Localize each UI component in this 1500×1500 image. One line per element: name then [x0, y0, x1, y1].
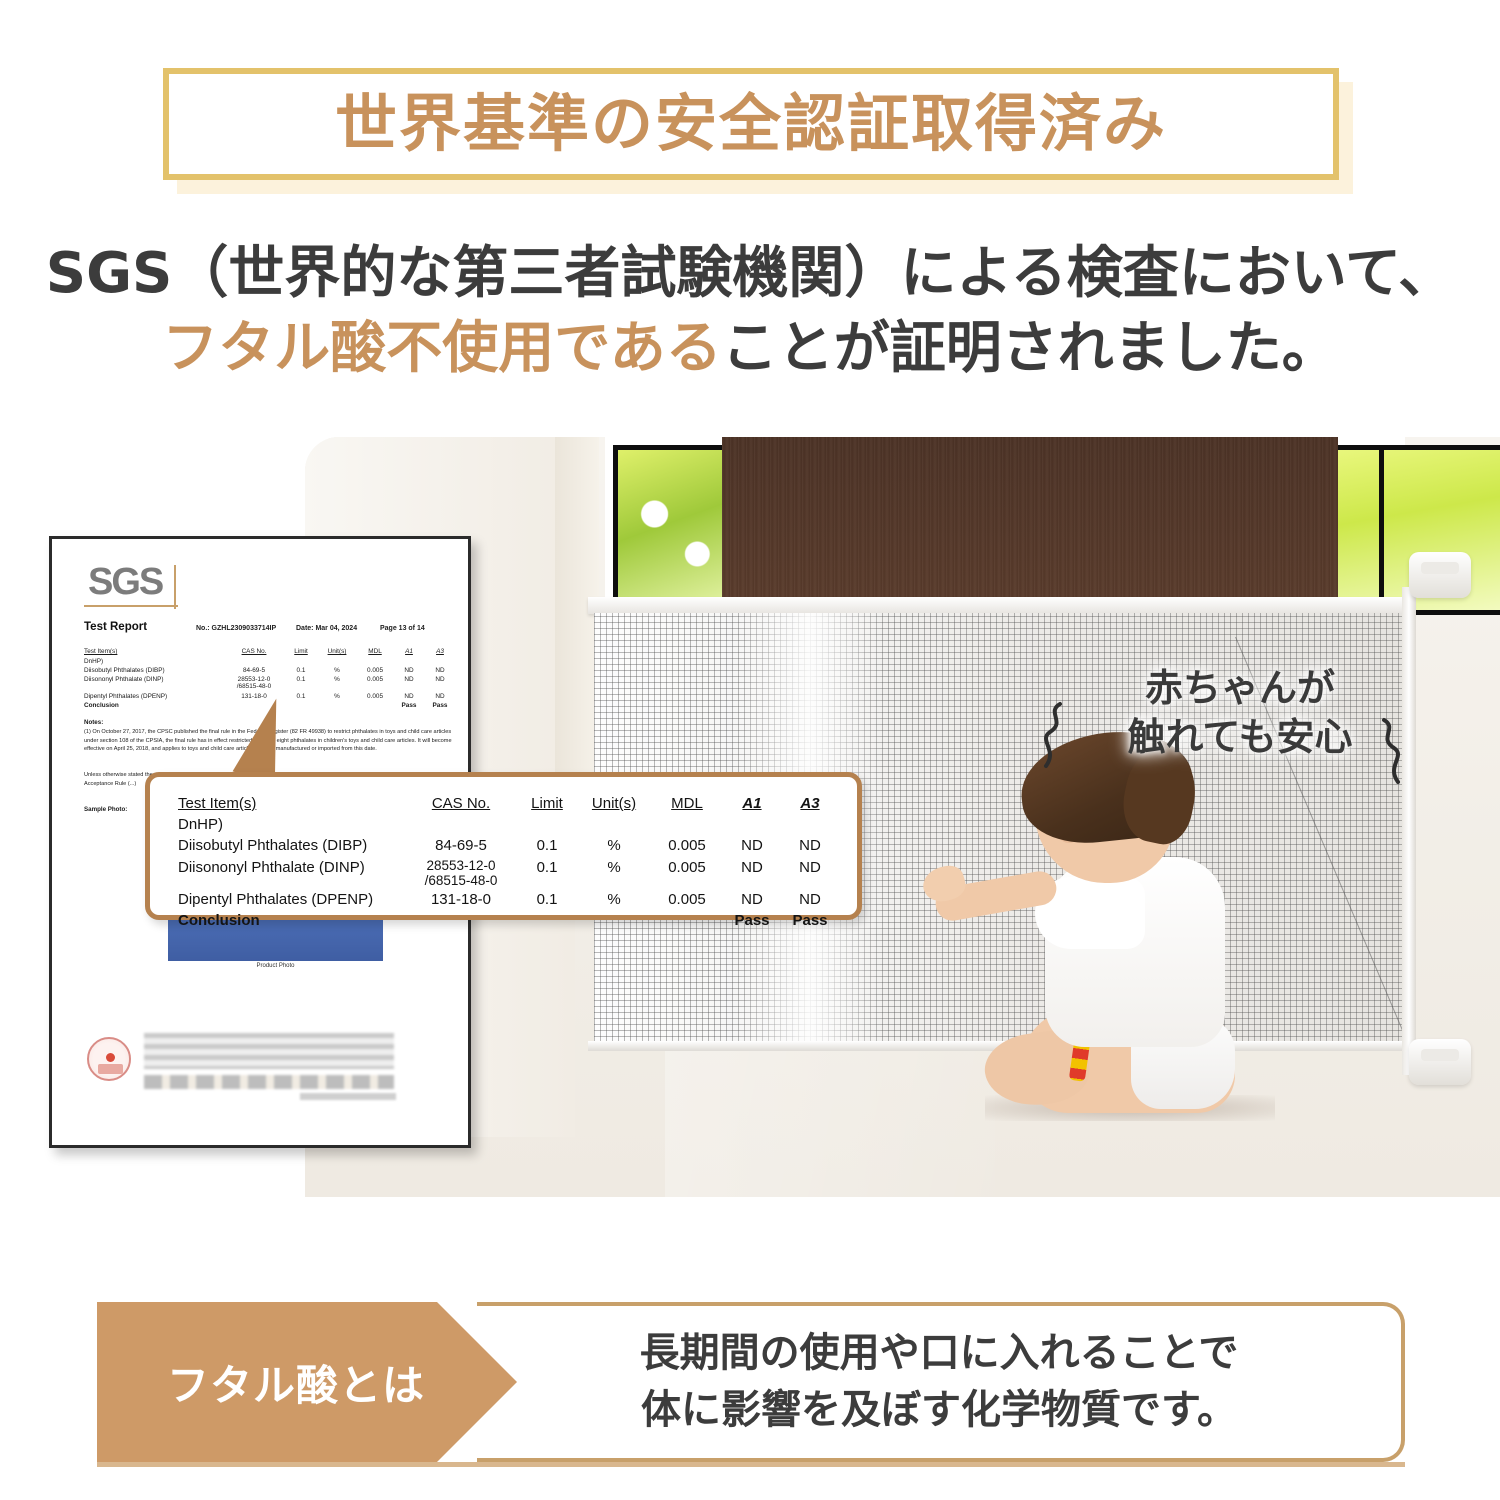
report-number: No.: GZHL2309033714IP	[196, 625, 296, 632]
table-row: Diisobutyl Phthalates (DIBP) 84-69-5 0.1…	[84, 666, 456, 675]
report-date: Date: Mar 04, 2024	[296, 625, 380, 632]
td-a1: ND	[724, 889, 780, 910]
td-mdl: 0.005	[356, 666, 394, 675]
squiggle-left-icon	[1036, 700, 1070, 772]
th-cas-no: CAS No.	[224, 647, 284, 656]
bottom-banner-line-2: 体に影響を及ぼす化学物質です。	[641, 1382, 1237, 1439]
bottom-banner-tag-label: フタル酸とは	[167, 1352, 425, 1413]
th-mdl: MDL	[356, 647, 394, 656]
table-header-row: Test Item(s) CAS No. Limit Unit(s) MDL A…	[84, 647, 456, 656]
squiggle-right-icon	[1374, 716, 1408, 788]
sgs-logo-tick	[174, 565, 176, 609]
td-conclusion-a1: Pass	[394, 701, 424, 710]
td-unit: %	[578, 857, 650, 889]
td-unit: %	[318, 692, 356, 701]
td-limit: 0.1	[284, 692, 318, 701]
td-limit: 0.1	[284, 675, 318, 691]
table-row: Diisobutyl Phthalates (DIBP) 84-69-5 0.1…	[178, 835, 840, 856]
td-item: Dipentyl Phthalates (DPENP)	[178, 889, 406, 910]
td-unit: %	[318, 675, 356, 691]
td-limit: 0.1	[516, 835, 578, 856]
td-limit: 0.1	[516, 857, 578, 889]
photo-caption-line-2: 触れても安心	[1075, 713, 1405, 762]
td-item: Diisononyl Phthalate (DINP)	[178, 857, 406, 889]
td-a3: ND	[780, 835, 840, 856]
wall-bracket-top	[1409, 552, 1471, 598]
td-cas-b: /68515-48-0	[425, 873, 498, 888]
td-item: Diisobutyl Phthalates (DIBP)	[84, 666, 224, 675]
td-a3: ND	[780, 857, 840, 889]
th-a1: A1	[394, 647, 424, 656]
table-row: Diisononyl Phthalate (DINP) 28553-12-0 /…	[178, 857, 840, 889]
report-title: Test Report	[84, 621, 196, 633]
th-a1: A1	[724, 793, 780, 814]
td-cas: 28553-12-0 /68515-48-0	[406, 857, 516, 889]
photo-caption-line-1: 赤ちゃんが	[1075, 664, 1405, 713]
certification-stamp-icon	[87, 1037, 131, 1081]
page-title: 世界基準の安全認証取得済み	[335, 93, 1167, 155]
td-conclusion-a3: Pass	[424, 701, 456, 710]
gate-top-rail	[588, 597, 1414, 614]
td-a3: ND	[424, 675, 456, 691]
td-limit: 0.1	[284, 666, 318, 675]
bottom-banner-tag: フタル酸とは	[97, 1302, 517, 1462]
td-a3: ND	[424, 692, 456, 701]
th-limit: Limit	[516, 793, 578, 814]
td-a1: ND	[394, 675, 424, 691]
wall-bracket-bottom	[1409, 1039, 1471, 1085]
acceptance-line-2: Acceptance Rule (...)	[84, 781, 136, 787]
td-limit: 0.1	[516, 889, 578, 910]
document-footer-blurred-line	[144, 1075, 394, 1089]
subheading-highlight: フタル酸不使用である	[162, 316, 721, 381]
sgs-logo-rule	[84, 605, 178, 607]
td-item: Dipentyl Phthalates (DPENP)	[84, 692, 224, 701]
td-mdl: 0.005	[356, 675, 394, 691]
report-page: Page 13 of 14	[380, 625, 425, 632]
th-mdl: MDL	[650, 793, 724, 814]
td-a3: ND	[780, 889, 840, 910]
table-row: Diisononyl Phthalate (DINP) 28553-12-0 /…	[84, 675, 456, 691]
td-mdl: 0.005	[650, 835, 724, 856]
td-cas-a: 28553-12-0	[426, 858, 495, 873]
td-unit: %	[578, 889, 650, 910]
td-unit: %	[578, 835, 650, 856]
bottom-banner: 長期間の使用や口に入れることで 体に影響を及ぼす化学物質です。 フタル酸とは	[97, 1302, 1405, 1462]
td-conclusion-label: Conclusion	[84, 701, 224, 710]
th-test-item: Test Item(s)	[84, 647, 224, 656]
bottom-banner-underline	[97, 1462, 1405, 1467]
table-subheader-row: DnHP)	[84, 656, 456, 665]
subheading-block: SGS（世界的な第三者試験機関）による検査において、 フタル酸不使用であることが…	[0, 236, 1500, 386]
header-banner: 世界基準の安全認証取得済み	[163, 68, 1339, 180]
table-header-row: Test Item(s) CAS No. Limit Unit(s) MDL A…	[178, 793, 840, 814]
td-a1: ND	[724, 835, 780, 856]
td-a3: ND	[424, 666, 456, 675]
td-cas-b: /68515-48-0	[237, 683, 271, 690]
td-subheader: DnHP)	[178, 814, 406, 835]
product-photo-caption: Product Photo	[168, 963, 383, 969]
bottom-banner-body: 長期間の使用や口に入れることで 体に影響を及ぼす化学物質です。	[477, 1302, 1405, 1462]
photo-caption: 赤ちゃんが 触れても安心	[1075, 664, 1405, 763]
table-subheader-row: DnHP)	[178, 814, 840, 835]
document-footer-blurred-text	[144, 1033, 394, 1069]
baby-figure	[925, 737, 1295, 1137]
th-limit: Limit	[284, 647, 318, 656]
td-conclusion-a1: Pass	[724, 910, 780, 931]
subheading-line-2: フタル酸不使用であることが証明されました。	[0, 311, 1500, 386]
notes-label: Notes:	[84, 719, 103, 726]
td-conclusion-a3: Pass	[780, 910, 840, 931]
th-a3: A3	[780, 793, 840, 814]
td-mdl: 0.005	[650, 857, 724, 889]
td-cas-a: 28553-12-0	[238, 676, 271, 683]
subheading-line-1: SGS（世界的な第三者試験機関）による検査において、	[0, 236, 1500, 311]
window-mullion	[1379, 450, 1384, 610]
td-mdl: 0.005	[650, 889, 724, 910]
td-cas: 131-18-0	[406, 889, 516, 910]
header-banner-box: 世界基準の安全認証取得済み	[163, 68, 1339, 180]
td-a1: ND	[394, 666, 424, 675]
th-units: Unit(s)	[578, 793, 650, 814]
td-cas: 84-69-5	[406, 835, 516, 856]
td-unit: %	[318, 666, 356, 675]
table-conclusion-row: Conclusion Pass Pass	[178, 910, 840, 931]
sgs-logo: SGS	[88, 561, 162, 604]
th-a3: A3	[424, 647, 456, 656]
th-cas-no: CAS No.	[406, 793, 516, 814]
td-a1: ND	[724, 857, 780, 889]
table-row: Dipentyl Phthalates (DPENP) 131-18-0 0.1…	[178, 889, 840, 910]
magnified-table-callout: Test Item(s) CAS No. Limit Unit(s) MDL A…	[145, 772, 862, 920]
td-cas: 28553-12-0 /68515-48-0	[224, 675, 284, 691]
magnified-test-table: Test Item(s) CAS No. Limit Unit(s) MDL A…	[178, 793, 840, 931]
gate-right-rail	[1402, 587, 1416, 1075]
th-units: Unit(s)	[318, 647, 356, 656]
document-footer-blurred-small	[300, 1093, 396, 1100]
td-mdl: 0.005	[356, 692, 394, 701]
td-item: Diisononyl Phthalate (DINP)	[84, 675, 224, 691]
td-subheader: DnHP)	[84, 656, 224, 665]
sample-photo-label: Sample Photo:	[84, 806, 127, 813]
td-cas: 84-69-5	[224, 666, 284, 675]
td-a1: ND	[394, 692, 424, 701]
subheading-rest: ことが証明されました。	[722, 316, 1338, 381]
td-conclusion-label: Conclusion	[178, 910, 406, 931]
document-header-row: Test Report No.: GZHL2309033714IP Date: …	[84, 621, 454, 633]
th-test-item: Test Item(s)	[178, 793, 406, 814]
bottom-banner-line-1: 長期間の使用や口に入れることで	[640, 1325, 1239, 1382]
td-item: Diisobutyl Phthalates (DIBP)	[178, 835, 406, 856]
